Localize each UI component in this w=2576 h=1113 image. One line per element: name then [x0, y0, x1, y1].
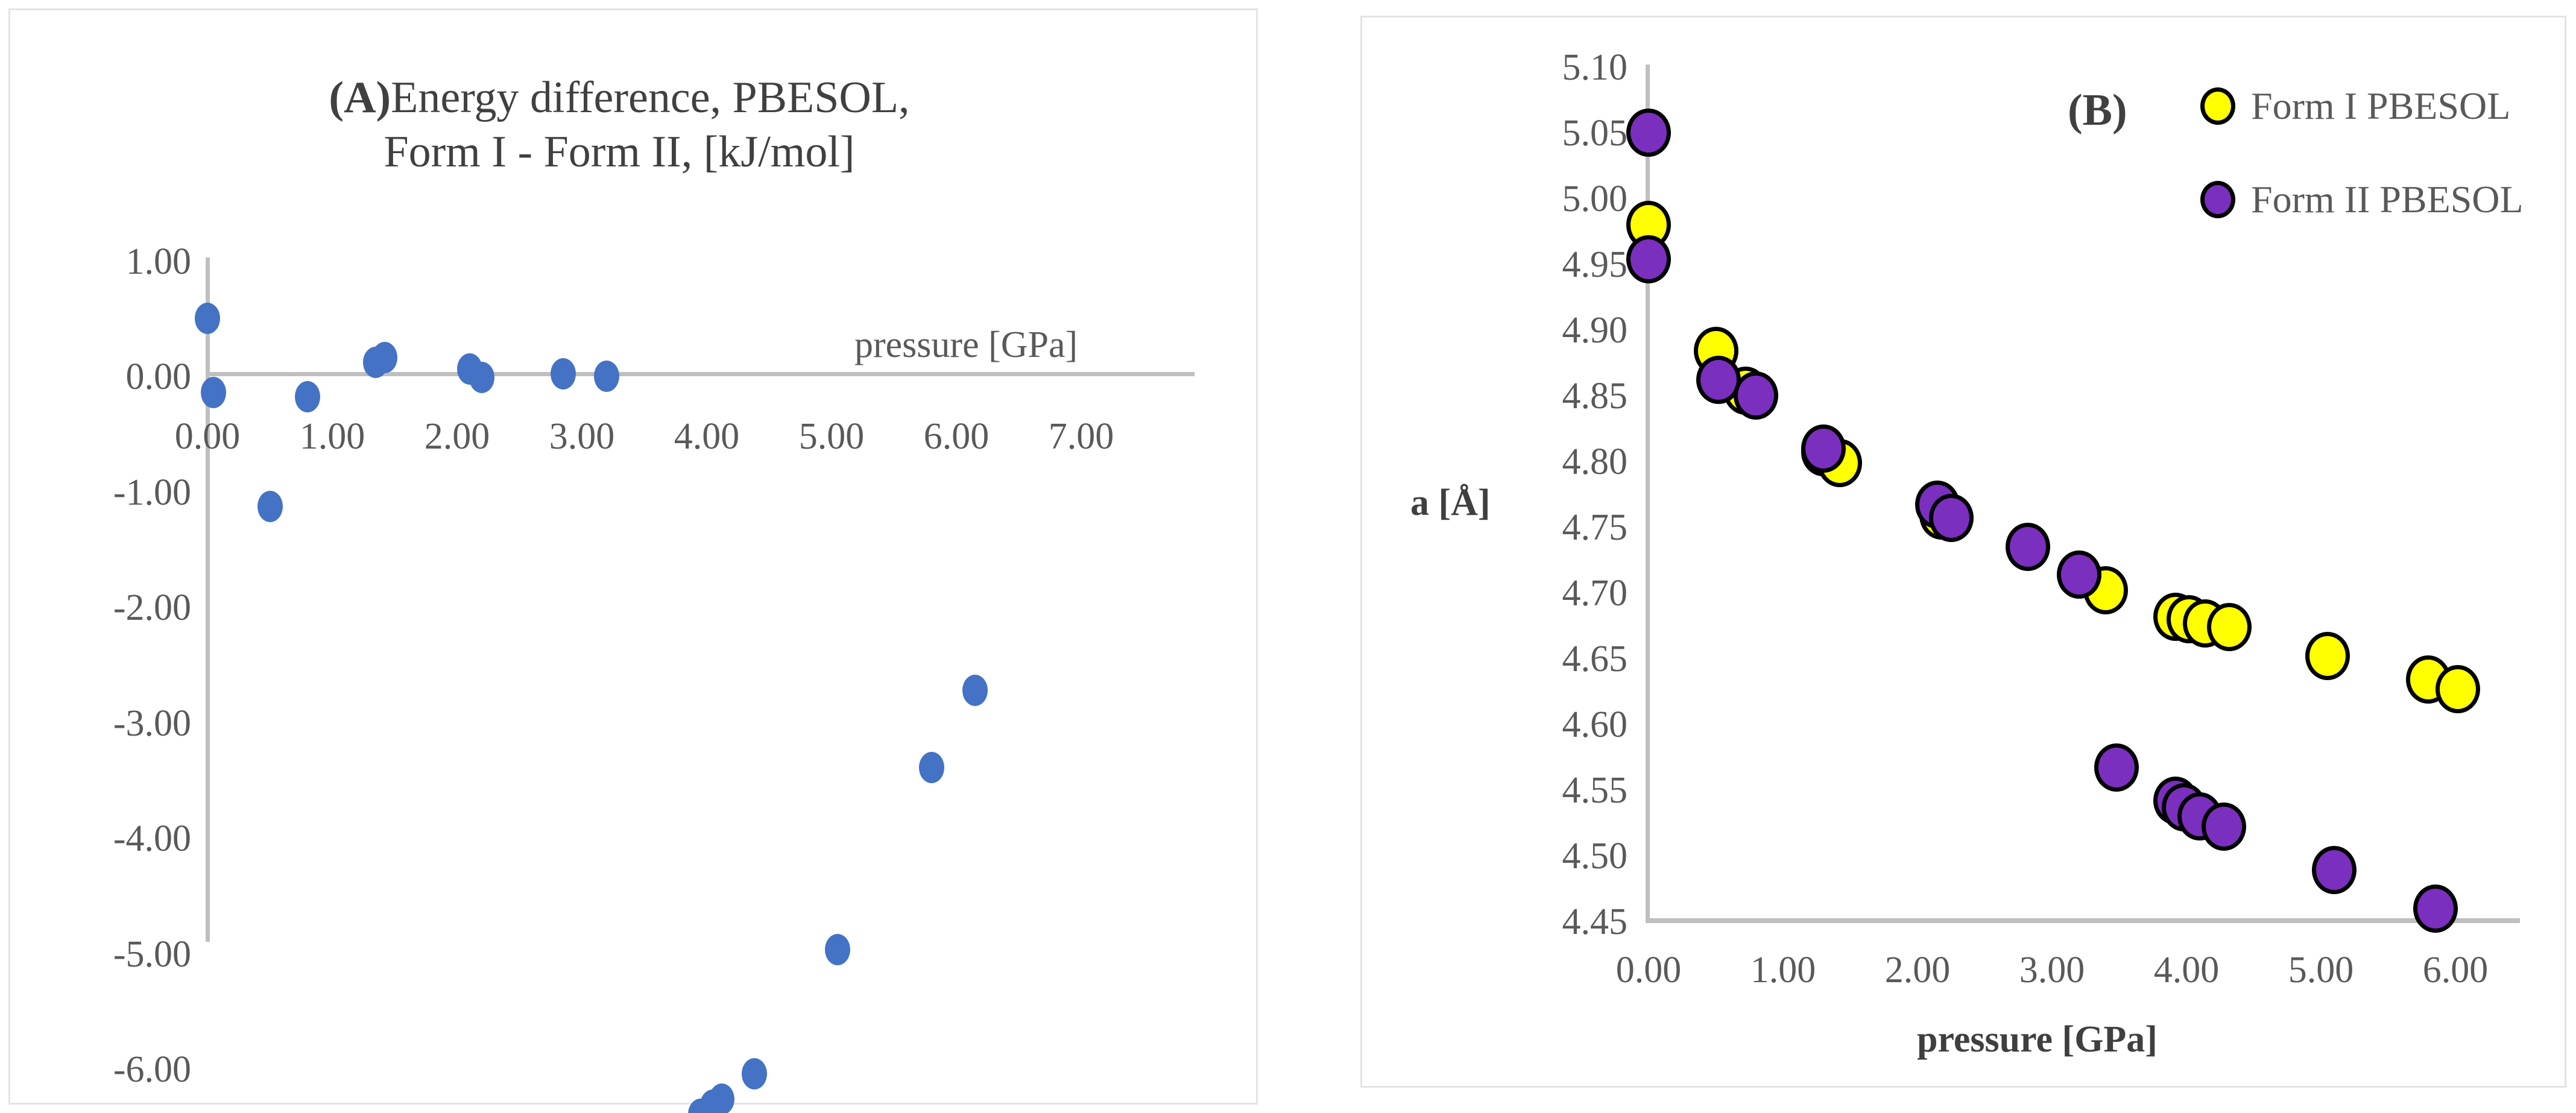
panel-a-data-point — [962, 675, 988, 706]
panel-b-data-point — [1626, 235, 1671, 283]
panel-a-y-tick-4: -3.00 — [28, 702, 191, 745]
panel-b-data-point — [2436, 665, 2480, 713]
panel-a-x-tick-6: 6.00 — [884, 415, 1029, 458]
panel-b-data-point — [2413, 884, 2458, 933]
panel-b-x-tick-1: 1.00 — [1708, 949, 1858, 992]
panel-a-y-tick-3: -2.00 — [28, 587, 191, 629]
panel-b-y-tick-7: 4.75 — [1447, 506, 1627, 549]
panel-a-data-point — [919, 752, 944, 783]
panel-b-data-point — [1626, 109, 1671, 157]
panel-b-x-axis-line — [1646, 918, 2520, 923]
panel-a-x-tick-7: 7.00 — [1009, 415, 1154, 458]
panel-a-data-point — [195, 303, 220, 334]
panel-a-data-point — [825, 934, 850, 965]
panel-b-x-tick-5: 5.00 — [2246, 949, 2396, 992]
panel-a-y-axis-line — [206, 257, 210, 942]
panel-a-title: (A)Energy difference, PBESOL, Form I - F… — [95, 71, 1144, 180]
panel-a-y-tick-2: -1.00 — [28, 471, 191, 514]
panel-b-data-point — [2094, 743, 2139, 792]
panel-b-data-point — [1734, 371, 1778, 420]
panel-b-data-point — [1929, 494, 1974, 542]
panel-b-data-point — [2006, 523, 2050, 571]
legend-label-form-i: Form I PBESOL — [2251, 84, 2510, 128]
legend-item-form-i[interactable]: Form I PBESOL — [2200, 84, 2510, 128]
panel-a-x-tick-5: 5.00 — [759, 415, 904, 458]
panel-a-title-line1: Energy difference, PBESOL, — [391, 73, 909, 122]
panel-b-data-point — [2305, 632, 2350, 680]
panel-b-label: (B) — [2068, 85, 2127, 136]
panel-a-x-tick-0: 0.00 — [135, 415, 280, 458]
panel-b-y-tick-3: 4.95 — [1447, 244, 1627, 286]
panel-a-x-axis-title: pressure [GPa] — [854, 324, 1078, 367]
panel-b-data-point — [2312, 846, 2357, 894]
panel-a-x-tick-4: 4.00 — [634, 415, 779, 458]
panel-a: (A)Energy difference, PBESOL, Form I - F… — [8, 8, 1258, 1105]
panel-b-y-tick-1: 5.05 — [1447, 112, 1627, 155]
panel-b-data-point — [2057, 550, 2101, 599]
panel-b-y-tick-0: 5.10 — [1447, 46, 1627, 89]
panel-b-x-axis-title: pressure [GPa] — [1917, 1018, 2158, 1061]
panel-b-x-tick-6: 6.00 — [2380, 949, 2531, 992]
panel-b-y-tick-6: 4.80 — [1447, 441, 1627, 484]
panel-a-x-tick-2: 2.00 — [385, 415, 529, 458]
panel-b-y-tick-9: 4.65 — [1447, 638, 1627, 681]
panel-a-data-point — [551, 358, 576, 389]
panel-b-data-point — [2207, 603, 2252, 651]
panel-a-data-point — [594, 361, 619, 392]
panel-a-data-point — [201, 377, 226, 408]
panel-a-data-point — [257, 491, 283, 522]
panel-a-zero-line — [206, 372, 1195, 376]
panel-a-y-tick-0: 1.00 — [28, 241, 191, 283]
panel-a-plot: (A)Energy difference, PBESOL, Form I - F… — [10, 10, 1256, 1103]
panel-b-y-tick-8: 4.70 — [1447, 572, 1627, 615]
panel-a-data-point — [469, 362, 494, 393]
panel-b-x-tick-3: 3.00 — [1977, 949, 2127, 992]
panel-b-x-tick-0: 0.00 — [1573, 949, 1724, 992]
panel-b-y-tick-4: 4.90 — [1447, 309, 1627, 352]
figure-canvas: (A)Energy difference, PBESOL, Form I - F… — [0, 0, 2576, 1113]
panel-a-data-point — [709, 1083, 734, 1113]
legend-swatch-form-ii-icon — [2200, 181, 2235, 218]
panel-b-y-axis-line — [1646, 65, 1650, 921]
panel-a-x-tick-3: 3.00 — [510, 415, 654, 458]
legend-swatch-form-i-icon — [2200, 87, 2235, 125]
panel-a-data-point — [295, 381, 320, 412]
legend-item-form-ii[interactable]: Form II PBESOL — [2200, 177, 2524, 222]
panel-b-legend: Form I PBESOL Form II PBESOL — [2200, 66, 2562, 222]
panel-b-plot: (B) a [Å] pressure [GPa] 5.10 5.05 5.00 … — [1362, 17, 2565, 1086]
panel-b-y-tick-10: 4.60 — [1447, 704, 1627, 746]
panel-b: (B) a [Å] pressure [GPa] 5.10 5.05 5.00 … — [1360, 16, 2566, 1088]
panel-a-y-tick-1: 0.00 — [28, 356, 191, 399]
panel-b-x-tick-2: 2.00 — [1842, 949, 1993, 992]
panel-a-y-tick-6: -5.00 — [28, 933, 191, 976]
panel-a-data-point — [742, 1058, 767, 1089]
panel-a-title-line2: Form I - Form II, [kJ/mol] — [384, 127, 854, 177]
panel-a-y-tick-7: -6.00 — [28, 1048, 191, 1091]
panel-a-y-tick-5: -4.00 — [28, 818, 191, 860]
panel-b-y-tick-12: 4.50 — [1447, 835, 1627, 878]
legend-label-form-ii: Form II PBESOL — [2251, 177, 2524, 222]
panel-a-x-tick-1: 1.00 — [260, 415, 405, 458]
panel-a-data-point — [372, 342, 397, 373]
panel-b-y-tick-2: 5.00 — [1447, 178, 1627, 221]
panel-b-data-point — [2202, 802, 2246, 851]
panel-a-label: (A) — [329, 73, 391, 122]
panel-b-y-tick-13: 4.45 — [1447, 901, 1627, 944]
panel-b-y-tick-5: 4.85 — [1447, 375, 1627, 418]
panel-b-data-point — [1801, 424, 1846, 473]
panel-b-y-tick-11: 4.55 — [1447, 769, 1627, 812]
panel-b-x-tick-4: 4.00 — [2111, 949, 2262, 992]
